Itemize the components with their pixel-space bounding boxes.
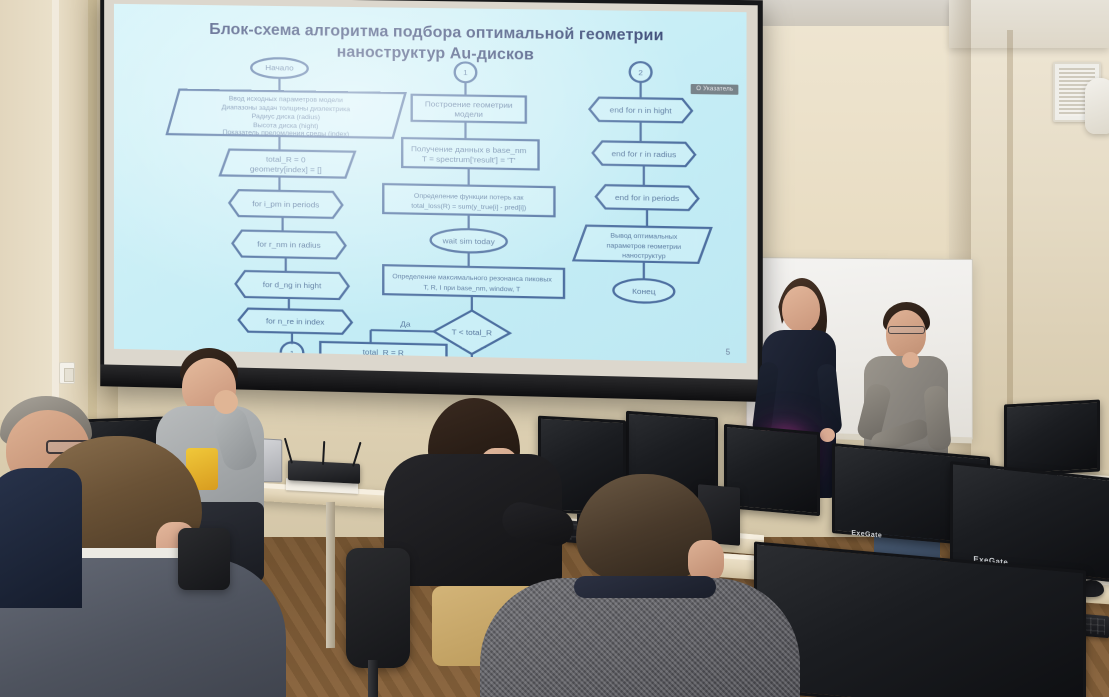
presenter-man-glasses-icon [888, 326, 925, 334]
svg-text:end for r in radius: end for r in radius [612, 149, 677, 159]
svg-text:наноструктур: наноструктур [622, 252, 666, 260]
svg-text:for n_re in index: for n_re in index [266, 317, 325, 327]
fc-decision-yes: Да [400, 320, 411, 329]
office-chair-back[interactable] [346, 548, 410, 668]
monitor-right-back-screen [1004, 399, 1100, 476]
light-switch[interactable] [59, 362, 75, 384]
svg-text:T < total_R: T < total_R [452, 328, 493, 338]
left-wall-trim [52, 0, 59, 420]
svg-text:wait sim today: wait sim today [442, 236, 495, 246]
svg-text:end for in periods: end for in periods [615, 193, 679, 203]
slide-flowchart: Начало Ввод исходных параметров модели Д… [114, 4, 747, 363]
attendee-knit-sweater-collar [574, 576, 716, 598]
monitor-right-back [1004, 399, 1100, 476]
svg-text:модели: модели [454, 110, 483, 119]
presenter-man-hand-on-chin [902, 352, 919, 368]
desk-left-leg [326, 502, 335, 648]
presenter-woman-right-hand [820, 428, 835, 442]
svg-text:geometry[index] = []: geometry[index] = [] [250, 165, 322, 175]
slide-surface: Блок-схема алгоритма подбора оптимальной… [114, 4, 747, 363]
right-wall-soffit [949, 0, 1109, 48]
svg-text:параметров геометрии: параметров геометрии [607, 242, 682, 250]
wall-speaker [1085, 78, 1109, 134]
svg-text:2: 2 [638, 68, 643, 77]
svg-text:T = spectrum['result'] = 'T': T = spectrum['result'] = 'T' [422, 155, 516, 165]
lecture-room-photo: Блок-схема алгоритма подбора оптимальной… [0, 0, 1109, 697]
left-wall-trim-secondary [88, 0, 97, 420]
svg-text:Конец: Конец [632, 287, 656, 296]
presenter-woman-head [782, 286, 820, 332]
svg-text:for d_ng in hight: for d_ng in hight [263, 281, 322, 291]
svg-text:end for n in hight: end for n in hight [610, 106, 673, 116]
slide-number: 5 [726, 348, 731, 357]
svg-text:Построение геометрии: Построение геометрии [425, 100, 513, 110]
svg-text:Высота диска (hight): Высота диска (hight) [253, 122, 318, 130]
presenter-man-head [886, 310, 926, 358]
svg-text:Вывод оптимальных: Вывод оптимальных [610, 233, 678, 241]
svg-text:total_R = 0: total_R = 0 [266, 155, 306, 164]
svg-text:1: 1 [463, 68, 468, 77]
fc-start-label: Начало [265, 64, 294, 73]
svg-text:for i_pm in periods: for i_pm in periods [252, 200, 319, 210]
office-chair-post [368, 660, 378, 697]
svg-text:for r_nm in radius: for r_nm in radius [257, 240, 321, 250]
slide-pointer-badge: О Указатель [691, 84, 738, 95]
svg-text:Показатель преломления среды (: Показатель преломления среды (index) [223, 129, 350, 138]
attendee-simpsons-hand [214, 390, 238, 414]
attendee-far-left-shoulder [0, 468, 82, 608]
attendee-knit-sweater [490, 474, 790, 697]
svg-text:Радиус диска (radius): Радиус диска (radius) [252, 113, 320, 121]
office-chair-back-2[interactable] [178, 528, 230, 590]
projection-screen: Блок-схема алгоритма подбора оптимальной… [100, 0, 763, 402]
